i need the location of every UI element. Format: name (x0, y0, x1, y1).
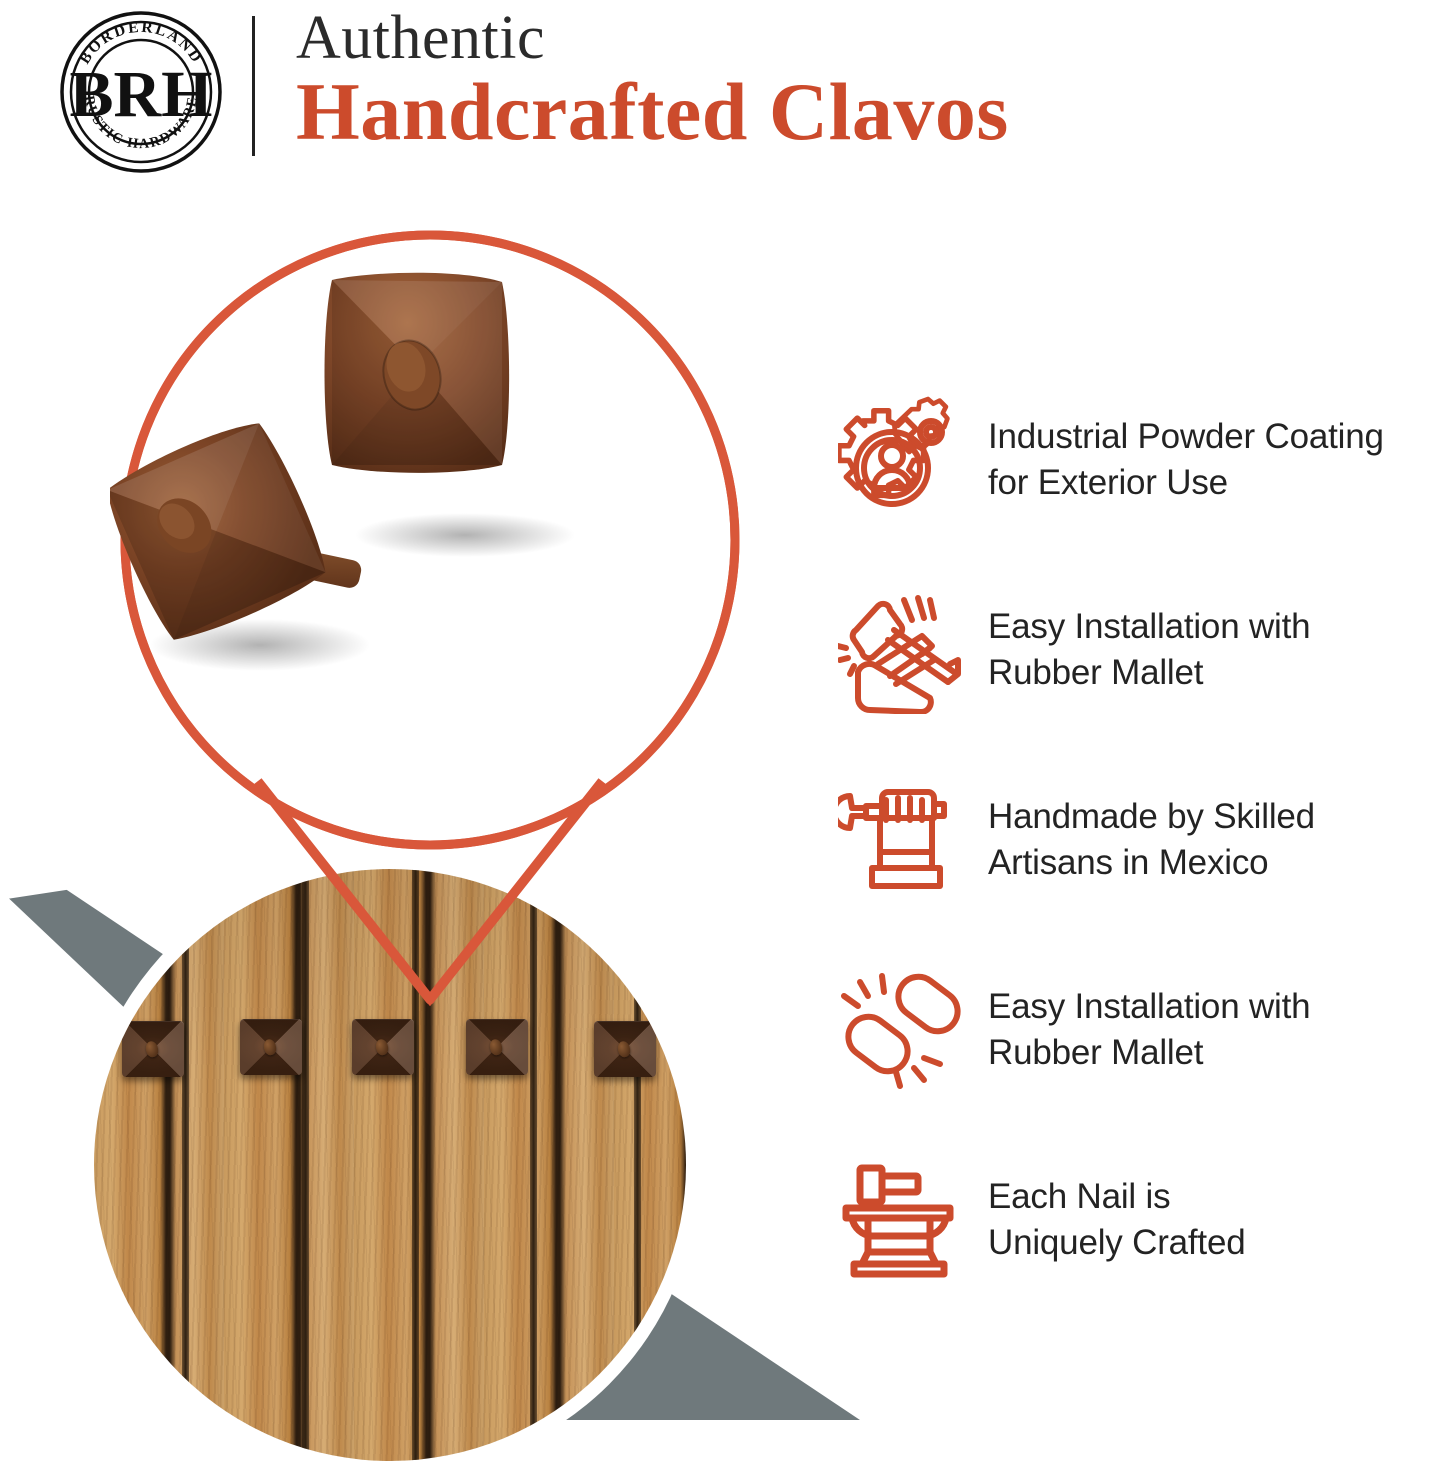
feature-line-1: Handmade by Skilled (988, 794, 1315, 840)
feature-text: Handmade by Skilled Artisans in Mexico (988, 794, 1315, 886)
installed-clavo (352, 1019, 414, 1075)
title-line-handcrafted-clavos: Handcrafted Clavos (296, 68, 1356, 156)
feature-line-2: Rubber Mallet (988, 1030, 1310, 1076)
installed-clavo (122, 1021, 184, 1077)
feature-line-1: Easy Installation with (988, 604, 1310, 650)
product-photo-pin (110, 225, 750, 1025)
feature-row: Easy Installation with Rubber Mallet (838, 935, 1438, 1125)
installed-clavo (466, 1019, 528, 1075)
feature-line-1: Each Nail is (988, 1174, 1246, 1220)
installed-clavo (594, 1021, 656, 1077)
feature-line-1: Easy Installation with (988, 984, 1310, 1030)
header-divider (252, 16, 255, 156)
installed-clavo (240, 1019, 302, 1075)
feature-line-2: Uniquely Crafted (988, 1220, 1246, 1266)
feature-text: Each Nail is Uniquely Crafted (988, 1174, 1246, 1266)
two-clavos-nails-photo (110, 225, 610, 705)
page-title: Authentic Handcrafted Clavos (296, 4, 1356, 156)
clavo-face-view (325, 273, 510, 473)
feature-line-2: for Exterior Use (988, 460, 1384, 506)
anvil-hammer-icon (838, 1156, 988, 1284)
feature-line-2: Artisans in Mexico (988, 840, 1315, 886)
feature-list: Industrial Powder Coating for Exterior U… (838, 365, 1438, 1315)
borderland-rustic-hardware-logo: BORDERLAND RUSTIC HARDWARE BRH (57, 8, 225, 176)
header: BORDERLAND RUSTIC HARDWARE BRH Authentic… (0, 0, 1445, 195)
hand-mallet-icon (838, 586, 988, 714)
feature-text: Industrial Powder Coating for Exterior U… (988, 414, 1384, 506)
feature-line-2: Rubber Mallet (988, 650, 1310, 696)
feature-text: Easy Installation with Rubber Mallet (988, 984, 1310, 1076)
fist-wrench-icon (838, 776, 988, 904)
chain-link-icon (838, 966, 988, 1094)
feature-line-1: Industrial Powder Coating (988, 414, 1384, 460)
logo-monogram: BRH (69, 58, 212, 131)
gear-person-icon (838, 396, 988, 524)
feature-row: Handmade by Skilled Artisans in Mexico (838, 745, 1438, 935)
feature-row: Industrial Powder Coating for Exterior U… (838, 365, 1438, 555)
title-line-authentic: Authentic (296, 4, 1356, 72)
feature-row: Easy Installation with Rubber Mallet (838, 555, 1438, 745)
feature-row: Each Nail is Uniquely Crafted (838, 1125, 1438, 1315)
feature-text: Easy Installation with Rubber Mallet (988, 604, 1310, 696)
